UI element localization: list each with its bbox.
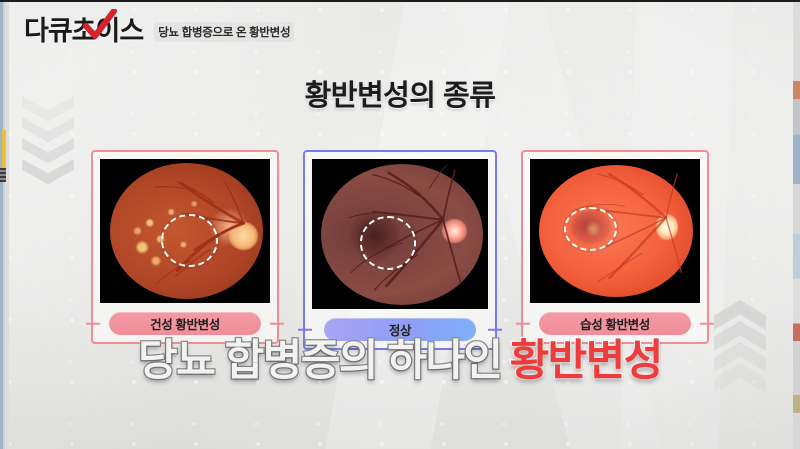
fundus-photo-wet-amd xyxy=(530,159,700,303)
dashed-circle-marker xyxy=(564,207,617,251)
card-label-dry-amd: 건성 황반변성 xyxy=(109,312,261,335)
bottom-caption: 당뇨 합병증의 하나인황반변성 xyxy=(0,340,800,383)
dashed-circle-marker xyxy=(360,216,417,270)
fundus-photo-dry-amd xyxy=(100,159,270,303)
logo-text: 다큐초이스 xyxy=(24,18,143,45)
program-logo: 다큐초이스 당뇨 합병증으로 온 황반변성 xyxy=(24,18,294,45)
card-dry-amd: 건성 황반변성 xyxy=(91,150,279,344)
broadcast-frame: 다큐초이스 당뇨 합병증으로 온 황반변성 황반변성의 종류 xyxy=(0,0,800,449)
card-normal: 정상 xyxy=(303,150,497,350)
page-title: 황반변성의 종류 xyxy=(0,72,800,114)
caption-highlight: 황반변성 xyxy=(510,337,662,385)
program-subtitle: 당뇨 합병증으로 온 황반변성 xyxy=(154,22,294,42)
card-label-wet-amd: 습성 황반변성 xyxy=(539,312,691,335)
top-black-bar xyxy=(0,0,800,2)
caption-lead: 당뇨 합병증의 하나인 xyxy=(138,337,501,385)
card-wet-amd: 습성 황반변성 xyxy=(521,150,709,344)
card-row: 건성 황반변성 xyxy=(0,150,800,350)
fundus-photo-normal xyxy=(312,159,488,309)
dashed-circle-marker xyxy=(161,214,218,267)
